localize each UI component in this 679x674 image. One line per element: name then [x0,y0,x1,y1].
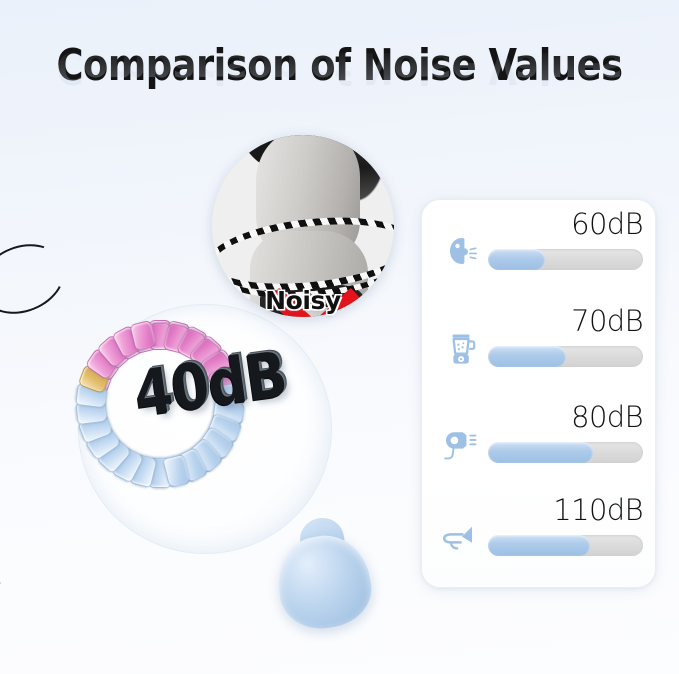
noise-bar-track [488,535,643,556]
talking-person-icon [436,226,486,278]
page-title: Comparison of Noise Values Comparison of… [0,44,679,133]
blender-icon [436,323,486,375]
noise-bar-track [488,442,643,463]
title-reflection: Comparison of Noise Values [24,45,655,89]
noise-value: 80dB [571,403,643,432]
noise-row: 70dB [422,307,657,395]
horn-icon [436,512,486,564]
noise-bar-fill [488,249,545,270]
infographic-canvas: Comparison of Noise Values Comparison of… [0,0,679,674]
noise-value: 110dB [553,496,643,525]
noise-bar-track [488,346,643,367]
noise-value: 70dB [571,307,643,336]
noise-bar-fill [488,442,593,463]
noise-row: 110dB [422,496,657,584]
hair-dryer-icon [436,419,486,471]
noise-comparison-panel: 60dB 70dB [421,199,656,588]
noise-bar-fill [488,535,590,556]
noise-row: 80dB [422,403,657,491]
noise-bar-track [488,249,643,270]
noise-bar-fill [488,346,566,367]
noise-value: 60dB [571,210,643,239]
noise-row: 60dB [422,210,657,298]
title-text: Comparison of Noise Values [24,44,655,88]
noisy-caption: Noisy [212,286,394,315]
